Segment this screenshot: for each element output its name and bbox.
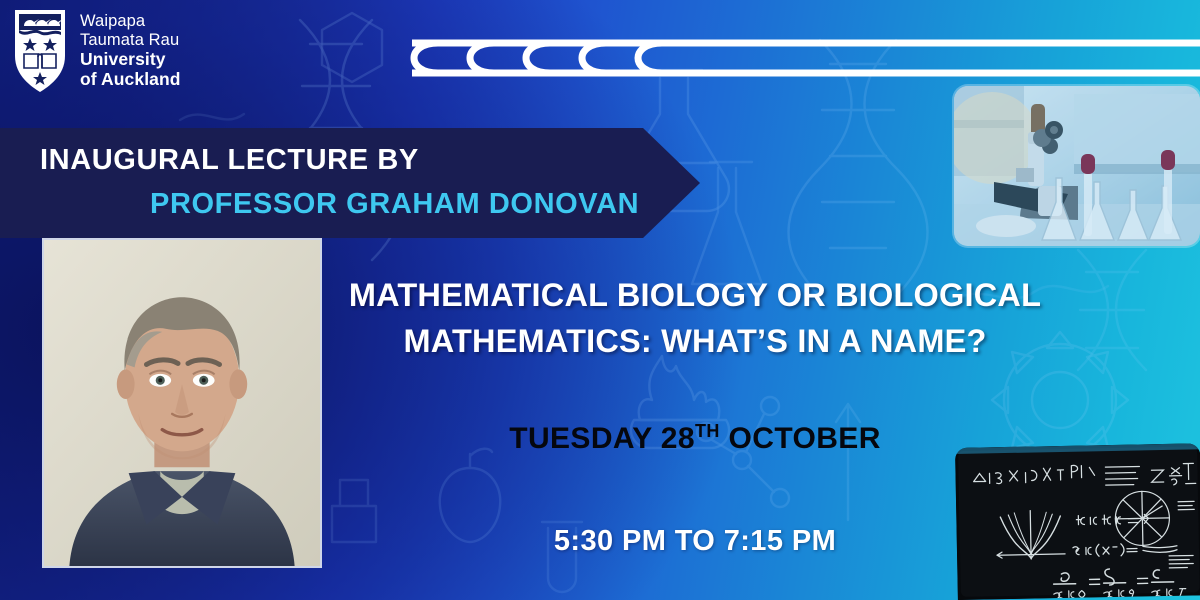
event-time: 5:30 PM TO 7:15 PM xyxy=(300,525,1090,558)
brand-line-english-2: of Auckland xyxy=(80,70,181,90)
lecture-title: MATHEMATICAL BIOLOGY OR BIOLOGICAL MATHE… xyxy=(300,272,1090,364)
university-crest-icon xyxy=(12,8,68,94)
banner-line-speaker-name: PROFESSOR GRAHAM DONOVAN xyxy=(150,188,639,221)
speaker-portrait-photo xyxy=(42,238,322,568)
event-date-ordinal: TH xyxy=(695,421,720,441)
event-poster: Waipapa Taumata Rau University of Auckla… xyxy=(0,0,1200,600)
brand-line-maori-2: Taumata Rau xyxy=(80,31,181,50)
blackboard-equations-photo xyxy=(955,443,1200,600)
event-date: TUESDAY 28TH OCTOBER xyxy=(300,421,1090,456)
speaker-banner: INAUGURAL LECTURE BY PROFESSOR GRAHAM DO… xyxy=(0,128,700,238)
microscope-laboratory-photo xyxy=(954,86,1200,246)
chevron-stripes-icon xyxy=(372,30,1200,86)
event-date-prefix: TUESDAY 28 xyxy=(509,422,695,455)
lecture-title-line2: MATHEMATICS: WHAT’S IN A NAME? xyxy=(300,318,1090,364)
banner-line-inaugural: INAUGURAL LECTURE BY xyxy=(40,144,419,177)
university-logo: Waipapa Taumata Rau University of Auckla… xyxy=(12,8,181,94)
university-wordmark: Waipapa Taumata Rau University of Auckla… xyxy=(80,12,181,90)
brand-line-english-1: University xyxy=(80,50,181,70)
lecture-title-line1: MATHEMATICAL BIOLOGY OR BIOLOGICAL xyxy=(300,272,1090,318)
brand-line-maori-1: Waipapa xyxy=(80,12,181,31)
event-date-suffix: OCTOBER xyxy=(720,422,881,455)
